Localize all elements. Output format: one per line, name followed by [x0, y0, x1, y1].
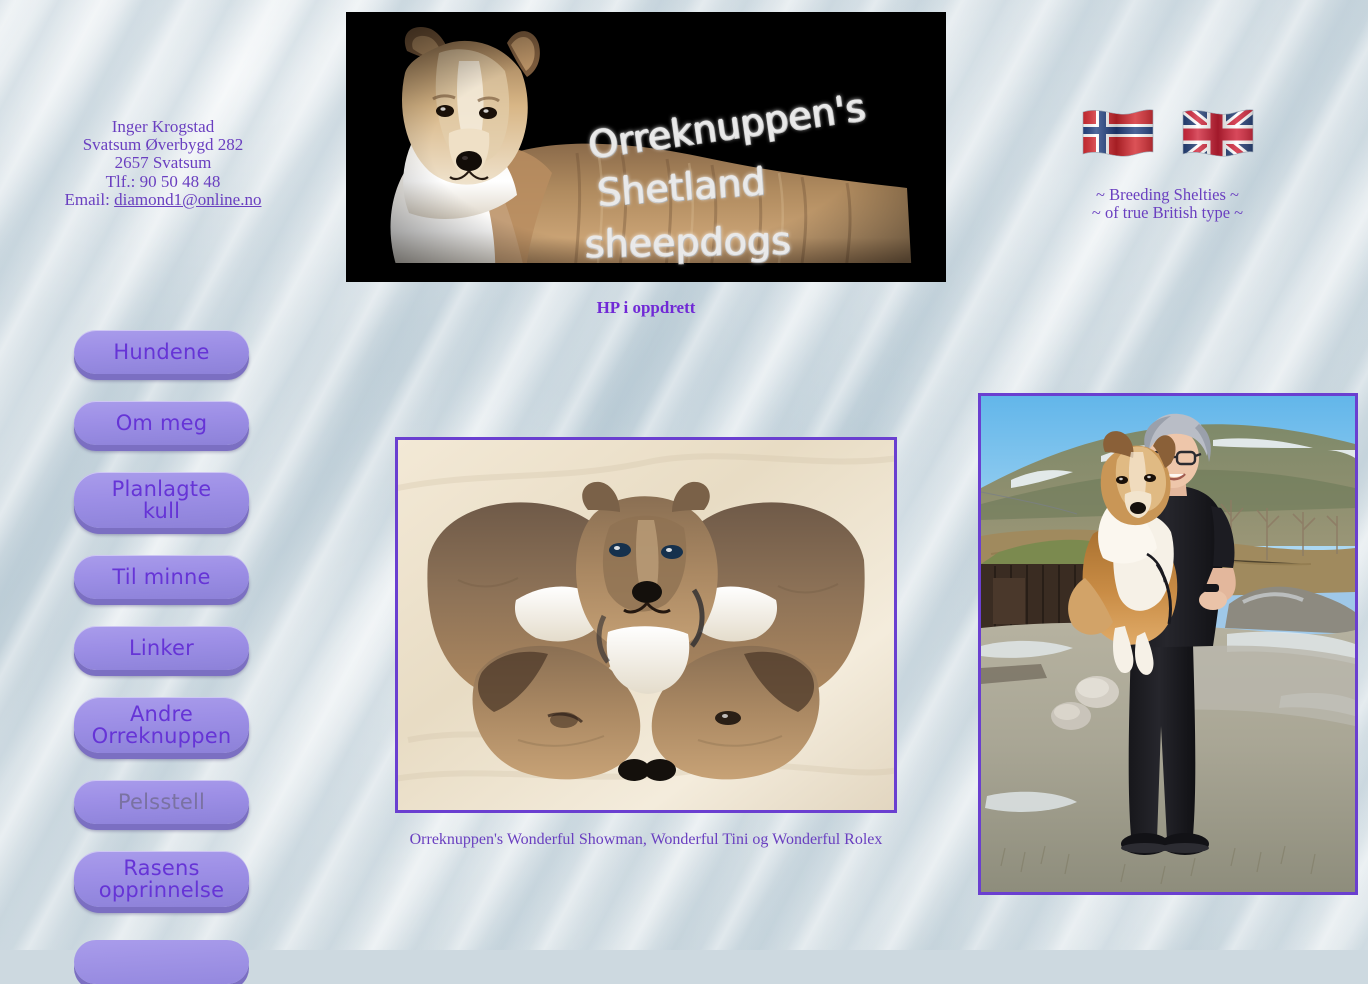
nav-button-hundene[interactable]: Hundene	[74, 330, 249, 374]
nav-button-planlagte-kull[interactable]: Planlagte kull	[74, 472, 249, 528]
three-puppies-image	[398, 440, 894, 810]
puppy-photo-caption: Orreknuppen's Wonderful Showman, Wonderf…	[346, 831, 946, 849]
main-navigation: Hundene Om meg Planlagte kull Til minne …	[74, 330, 254, 934]
site-banner: Orreknuppen's Shetland sheepdogs	[346, 12, 946, 282]
email-label: Email:	[65, 190, 110, 209]
norway-flag-icon	[1079, 104, 1157, 166]
flag-row	[1060, 104, 1275, 166]
page-root: Inger Krogstad Svatsum Øverbygd 282 2657…	[0, 0, 1368, 950]
nav-label: Planlagte kull	[102, 472, 222, 528]
contact-postal: 2657 Svatsum	[0, 154, 326, 172]
contact-street: Svatsum Øverbygd 282	[0, 136, 326, 154]
nav-button-om-meg[interactable]: Om meg	[74, 401, 249, 445]
nav-label: Om meg	[106, 406, 218, 440]
sheltie-banner-image	[347, 13, 946, 282]
tagline-line1: ~ Breeding Shelties ~	[1040, 186, 1295, 204]
contact-phone: Tlf.: 90 50 48 48	[0, 173, 326, 191]
woman-holding-sheltie-image	[981, 396, 1355, 892]
puppy-photo	[395, 437, 897, 813]
contact-block: Inger Krogstad Svatsum Øverbygd 282 2657…	[0, 118, 326, 209]
contact-name: Inger Krogstad	[0, 118, 326, 136]
nav-button-linker[interactable]: Linker	[74, 626, 249, 670]
nav-label: Hundene	[103, 335, 219, 369]
contact-email-line: Email: diamond1@online.no	[0, 191, 326, 209]
nav-button-partial-offscreen[interactable]	[74, 940, 249, 984]
nav-button-rasens-opprinnelse[interactable]: Rasens opprinnelse	[74, 851, 249, 907]
tagline-line2: ~ of true British type ~	[1040, 204, 1295, 222]
nav-label: Rasens opprinnelse	[89, 851, 234, 907]
hp-i-oppdrett-text: HP i oppdrett	[346, 298, 946, 318]
breeding-tagline: ~ Breeding Shelties ~ ~ of true British …	[1040, 186, 1295, 222]
owner-photo	[978, 393, 1358, 895]
nav-label: Til minne	[102, 560, 220, 594]
nav-label: Linker	[119, 631, 204, 665]
nav-button-til-minne[interactable]: Til minne	[74, 555, 249, 599]
uk-flag-icon	[1179, 104, 1257, 166]
nav-button-andre-orreknuppen[interactable]: Andre Orreknuppen	[74, 697, 249, 753]
nav-label: Pelsstell	[108, 785, 215, 819]
nav-label: Andre Orreknuppen	[82, 697, 242, 753]
nav-button-pelsstell[interactable]: Pelsstell	[74, 780, 249, 824]
email-link[interactable]: diamond1@online.no	[114, 190, 261, 209]
